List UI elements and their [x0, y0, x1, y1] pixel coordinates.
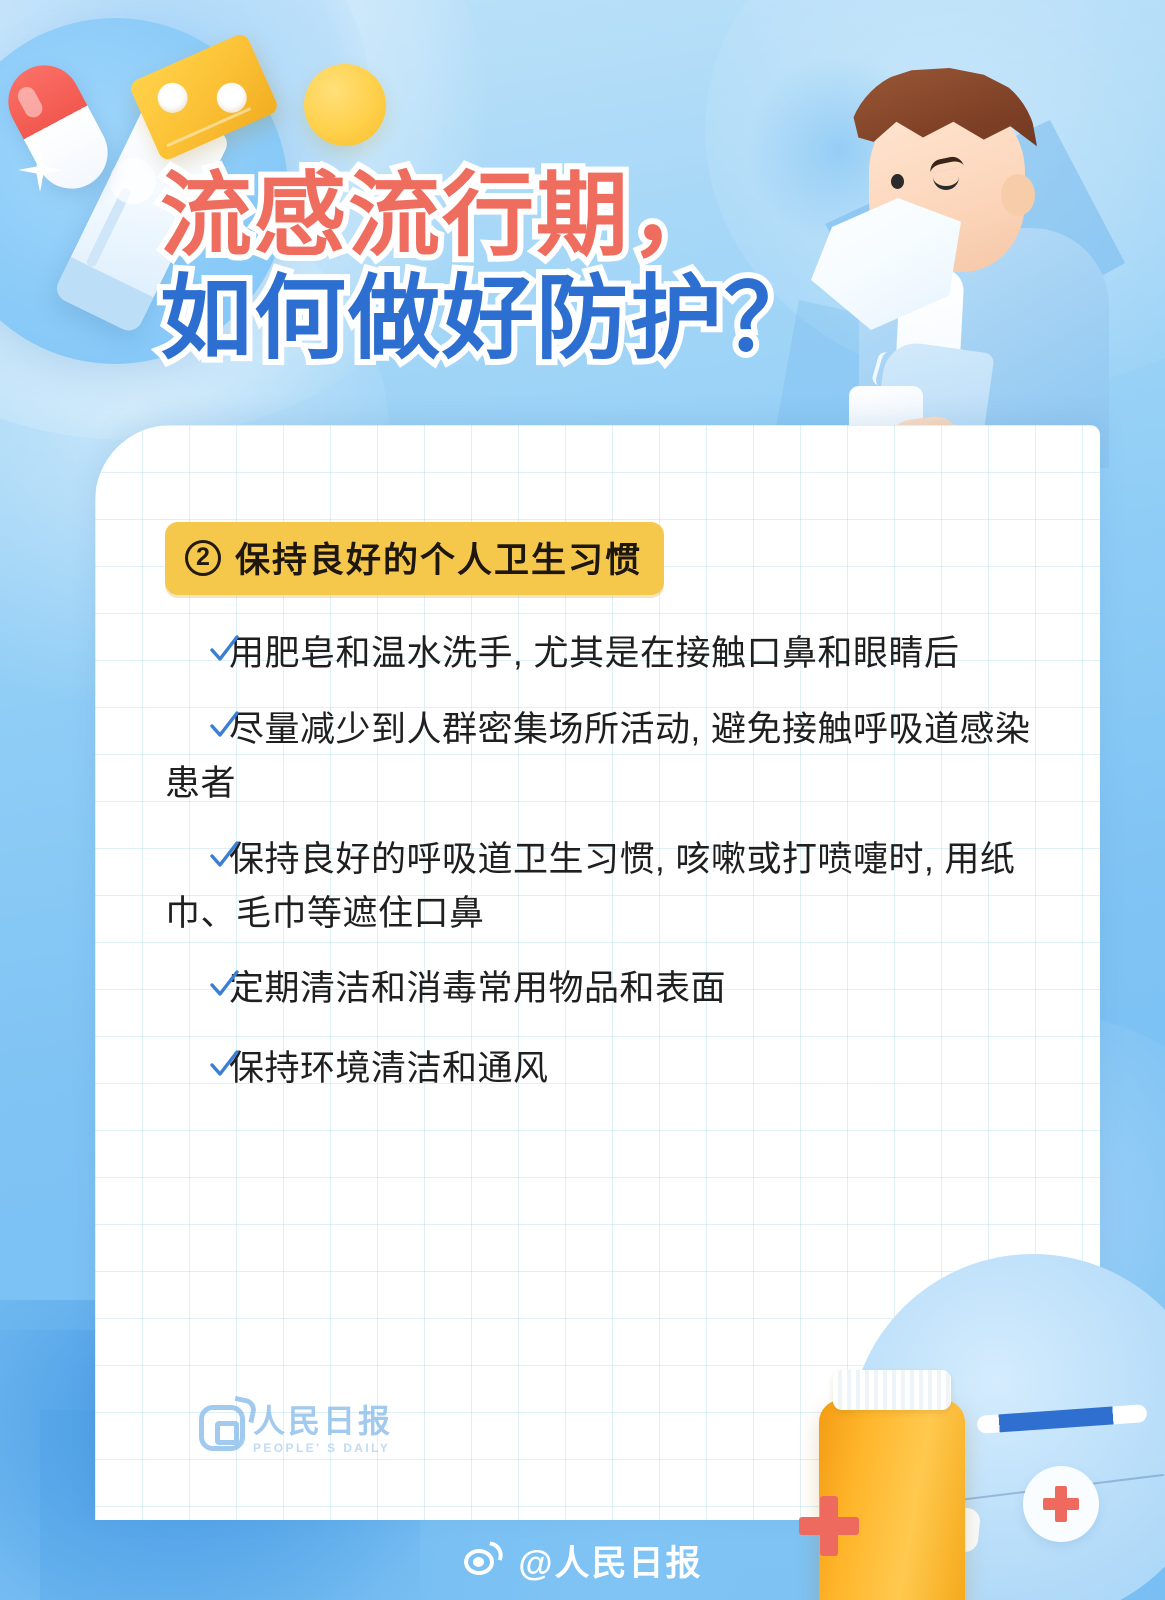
watermark-text: 人民日报 PEOPLE' S DAILY [253, 1405, 393, 1454]
weibo-icon [462, 1543, 504, 1577]
title-line-1: 流感流行期， [160, 168, 890, 265]
list-item-text: 保持环境清洁和通风 [229, 1049, 549, 1088]
list-item-text: 用肥皂和温水洗手, 尤其是在接触口鼻和眼睛后 [229, 634, 959, 673]
footer-handle: @人民日报 [518, 1535, 702, 1586]
watermark-brand-cn: 人民日报 [253, 1405, 393, 1437]
list-item: 尽量减少到人群密集场所活动, 避免接触呼吸道感染患者 [165, 703, 1038, 811]
list-item: 保持良好的呼吸道卫生习惯, 咳嗽或打喷嚏时, 用纸巾、毛巾等遮住口鼻 [165, 833, 1038, 941]
section-badge: 2 保持良好的个人卫生习惯 [165, 522, 664, 595]
character-ear [1001, 174, 1035, 216]
weibo-signal-arc [487, 1541, 506, 1560]
check-icon [209, 710, 239, 740]
list-item: 定期清洁和消毒常用物品和表面 [165, 962, 1038, 1016]
poster-root: 流感流行期， 如何做好防护？ 2 保持良好的个人卫生习惯 用肥皂和温水洗手, 尤… [0, 0, 1165, 1600]
section-number: 2 [185, 540, 221, 576]
at-sign-icon [199, 1405, 245, 1451]
list-item-text: 保持良好的呼吸道卫生习惯, 咳嗽或打喷嚏时, 用纸巾、毛巾等遮住口鼻 [165, 840, 1015, 933]
list-item-text: 定期清洁和消毒常用物品和表面 [229, 969, 726, 1008]
pill-icon [153, 78, 193, 118]
check-icon [209, 840, 239, 870]
pill-icon [212, 78, 252, 118]
watermark-brand-en: PEOPLE' S DAILY [253, 1442, 393, 1454]
bottle-cap-icon [833, 1370, 951, 1410]
check-icon [209, 1049, 239, 1079]
section-heading: 保持良好的个人卫生习惯 [235, 532, 642, 583]
peoples-daily-watermark: 人民日报 PEOPLE' S DAILY [199, 1405, 393, 1454]
bullet-list: 用肥皂和温水洗手, 尤其是在接触口鼻和眼睛后 尽量减少到人群密集场所活动, 避免… [165, 627, 1038, 1096]
check-icon [209, 634, 239, 664]
title-line-2: 如何做好防护？ [160, 271, 890, 368]
card-content: 2 保持良好的个人卫生习惯 用肥皂和温水洗手, 尤其是在接触口鼻和眼睛后 尽量减… [95, 425, 1100, 1096]
list-item: 用肥皂和温水洗手, 尤其是在接触口鼻和眼睛后 [165, 627, 1038, 681]
yellow-circle-icon [304, 64, 386, 146]
list-item-text: 尽量减少到人群密集场所活动, 避免接触呼吸道感染患者 [165, 710, 1030, 803]
footer-bar: @人民日报 [0, 1520, 1165, 1600]
check-icon [209, 969, 239, 999]
page-title: 流感流行期， 如何做好防护？ [160, 168, 890, 367]
list-item: 保持环境清洁和通风 [165, 1042, 1038, 1096]
character-eye [891, 174, 904, 189]
